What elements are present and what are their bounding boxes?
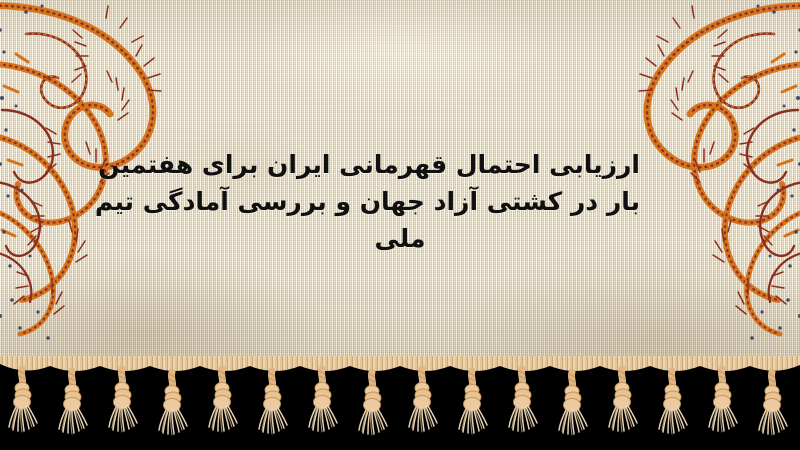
title-line-1: ارزیابی احتمال قهرمانی ایران برای هفتمین (160, 146, 640, 183)
title-line-3: ملی (160, 220, 640, 257)
cloth-hem (0, 356, 800, 382)
title-card: ارزیابی احتمال قهرمانی ایران برای هفتمین… (0, 0, 800, 450)
black-backdrop (0, 370, 800, 450)
title-line-2: بار در کشتی آزاد جهان و بررسی آمادگی تیم (160, 183, 640, 220)
video-title: ارزیابی احتمال قهرمانی ایران برای هفتمین… (160, 146, 640, 257)
